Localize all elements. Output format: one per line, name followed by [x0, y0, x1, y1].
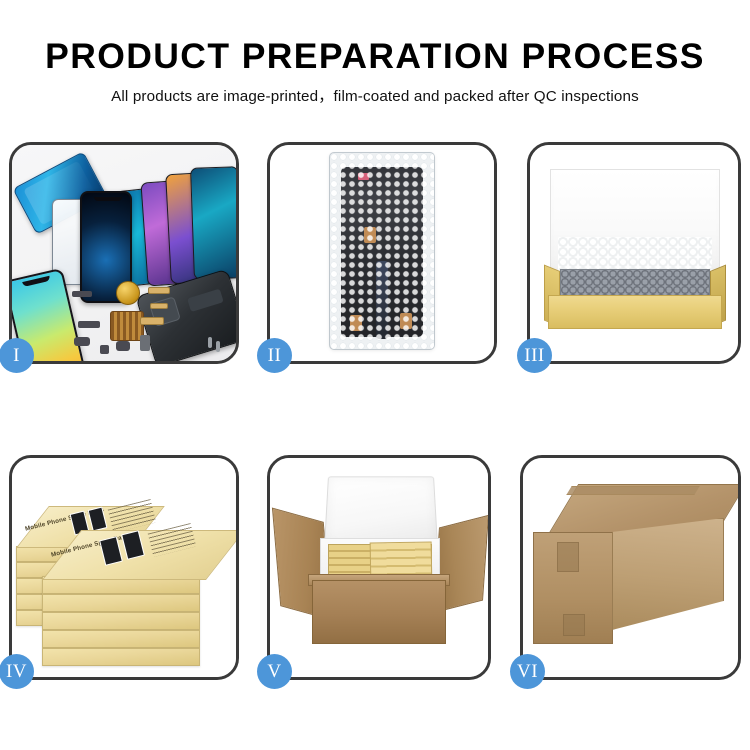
- flex-tab-top-icon: [364, 227, 376, 243]
- sealed-carton-scene: [523, 458, 738, 677]
- part-screw-1-icon: [208, 337, 212, 348]
- step-3-image: [530, 145, 738, 361]
- stacked-box-front-1: [42, 648, 200, 666]
- flex-cable-3-icon: [140, 317, 164, 325]
- phones-and-parts-scene: [12, 145, 236, 361]
- step-5-image: [270, 458, 488, 677]
- page-subtitle: All products are image-printed，film-coat…: [0, 84, 750, 106]
- step-panel-1: I: [9, 142, 239, 364]
- flex-tab-left-icon: [350, 315, 362, 331]
- stacked-box-front-2: [42, 630, 200, 648]
- wrapped-lcd-icon: [341, 167, 423, 337]
- flex-tab-right-icon: [400, 313, 412, 329]
- stacked-box-front-4: [42, 594, 200, 612]
- open-box-with-foam-scene: [530, 145, 738, 361]
- coil-part-icon: [116, 281, 140, 305]
- carton-right-face-icon: [612, 518, 724, 630]
- part-connector-2-icon: [78, 321, 100, 328]
- part-connector-3-icon: [74, 337, 90, 346]
- step-panel-4: Mobile Phone Spare Parts Mobile Phone Sp…: [9, 455, 239, 680]
- step-badge-6: VI: [510, 654, 545, 689]
- part-screw-2-icon: [216, 341, 220, 352]
- step-panel-2: II: [267, 142, 497, 364]
- step-panel-3: III: [527, 142, 741, 364]
- bubble-wrap-pouch-icon: [330, 153, 434, 349]
- bubble-wrapped-screen-scene: [270, 145, 494, 361]
- carton-with-cooler-scene: [270, 458, 488, 677]
- flex-cable-2-icon: [150, 303, 168, 309]
- step-6-image: [523, 458, 738, 677]
- part-battery-icon: [140, 335, 150, 351]
- box-spec-lines-rear: [108, 499, 156, 533]
- product-preparation-process-page: PRODUCT PREPARATION PROCESS All products…: [0, 0, 750, 750]
- step-badge-5: V: [257, 654, 292, 689]
- flex-cable-1-icon: [148, 287, 170, 294]
- box-front-panel-icon: [548, 295, 722, 329]
- part-connector-1-icon: [72, 291, 92, 297]
- step-1-image: [12, 145, 236, 361]
- stacked-boxes-scene: Mobile Phone Spare Parts Mobile Phone Sp…: [12, 458, 236, 677]
- carton-tape-seam-icon: [566, 486, 699, 495]
- chip-grid-part-icon: [110, 311, 144, 341]
- step-2-image: [270, 145, 494, 361]
- step-panel-6: VI: [520, 455, 741, 680]
- step-badge-2: II: [257, 338, 292, 373]
- page-title: PRODUCT PREPARATION PROCESS: [0, 36, 750, 77]
- part-speaker-icon: [116, 341, 130, 351]
- part-button-icon: [100, 345, 109, 354]
- step-badge-1: I: [0, 338, 34, 373]
- carton-tape-patch-bottom-icon: [563, 614, 585, 636]
- carton-front-panel-icon: [312, 580, 446, 644]
- phone-display-4-icon: [190, 166, 236, 280]
- step-badge-4: IV: [0, 654, 34, 689]
- stacked-box-front-3: [42, 612, 200, 630]
- step-badge-3: III: [517, 338, 552, 373]
- qc-sticker-icon: [358, 173, 369, 180]
- step-4-image: Mobile Phone Spare Parts Mobile Phone Sp…: [12, 458, 236, 677]
- carton-tape-patch-top-icon: [557, 542, 579, 572]
- step-panel-5: V: [267, 455, 491, 680]
